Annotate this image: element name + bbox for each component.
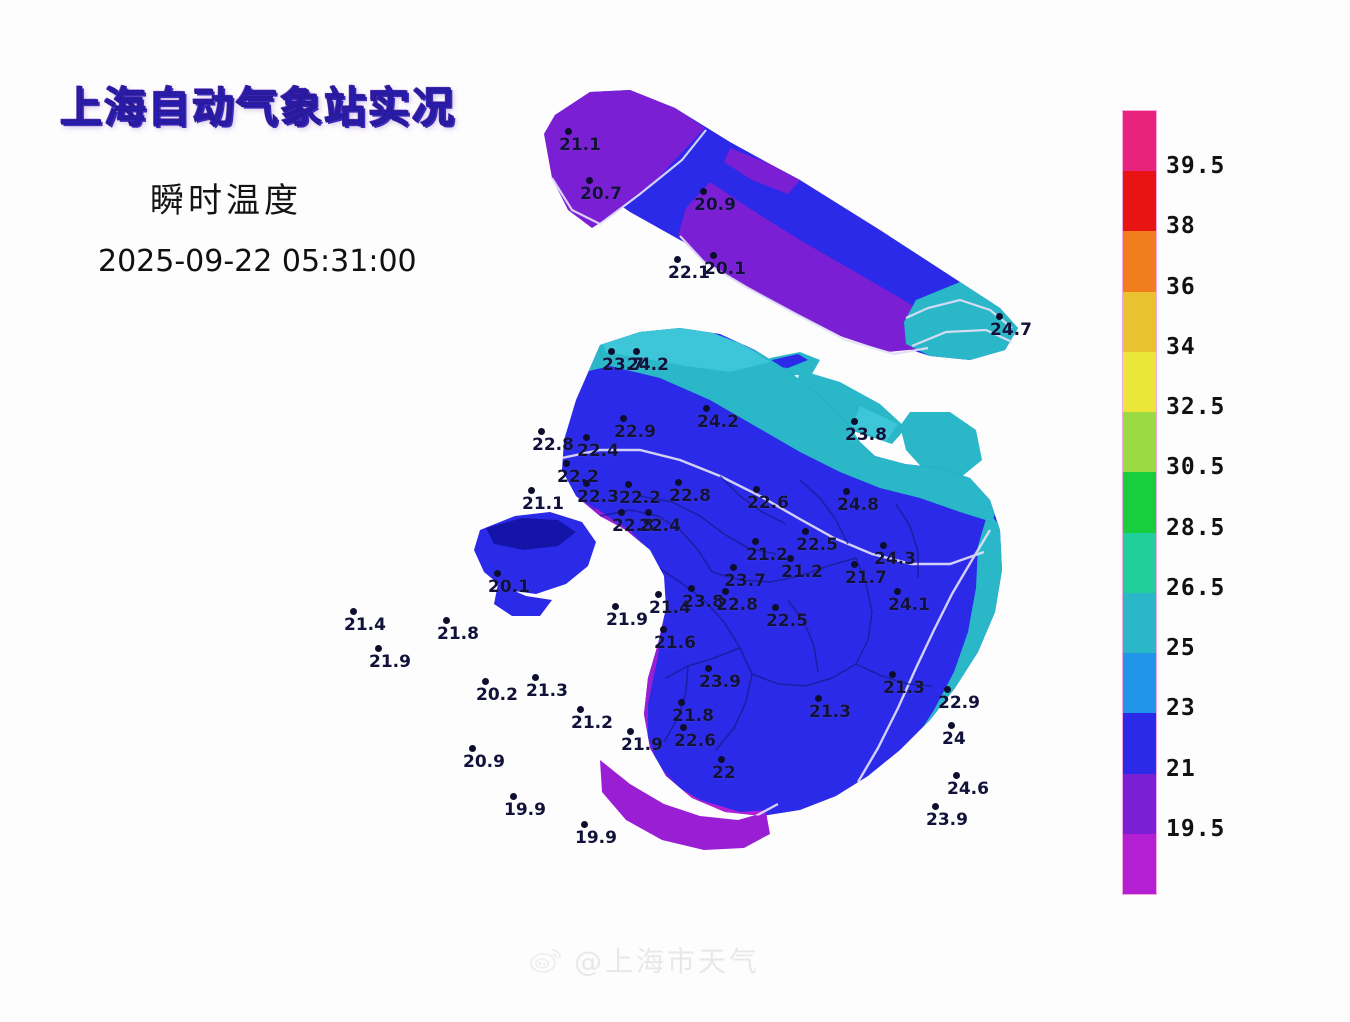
station-dot-icon <box>482 678 489 685</box>
station-value: 22.4 <box>639 516 681 536</box>
station-dot-icon <box>608 348 615 355</box>
station-value: 20.7 <box>580 184 622 204</box>
station-dot-icon <box>944 686 951 693</box>
station-dot-icon <box>996 313 1003 320</box>
station-dot-icon <box>494 570 501 577</box>
colorbar-label-21: 21 <box>1166 756 1196 782</box>
station-value: 24.3 <box>874 549 916 569</box>
station-dot-icon <box>350 608 357 615</box>
station-value: 22.8 <box>669 486 711 506</box>
station-value: 24.6 <box>947 779 989 799</box>
colorbar-label-34: 34 <box>1166 334 1196 360</box>
station-value: 20.2 <box>476 685 518 705</box>
colorbar-gradient <box>1122 110 1157 895</box>
colorbar-band-6 <box>1123 472 1156 532</box>
colorbar-band-9 <box>1123 653 1156 713</box>
station-value: 21.7 <box>845 568 887 588</box>
station-value: 21.2 <box>781 562 823 582</box>
station-value: 20.1 <box>704 259 746 279</box>
station-dot-icon <box>620 415 627 422</box>
station-value: 24.2 <box>697 412 739 432</box>
station-dot-icon <box>375 645 382 652</box>
watermark: @上海市天气 <box>530 940 760 980</box>
watermark-text: @上海市天气 <box>574 940 760 980</box>
station-value: 21.1 <box>522 494 564 514</box>
station-dot-icon <box>645 509 652 516</box>
station-dot-icon <box>889 671 896 678</box>
station-dot-icon <box>510 793 517 800</box>
station-value: 21.9 <box>369 652 411 672</box>
station-dot-icon <box>703 405 710 412</box>
colorbar-band-1 <box>1123 171 1156 231</box>
colorbar-label-39-5: 39.5 <box>1166 153 1225 179</box>
station-value: 24.8 <box>837 495 879 515</box>
station-dot-icon <box>538 428 545 435</box>
station-dot-icon <box>633 348 640 355</box>
station-dot-icon <box>655 591 662 598</box>
colorbar-label-36: 36 <box>1166 274 1196 300</box>
colorbar-band-4 <box>1123 352 1156 412</box>
station-value: 19.9 <box>504 800 546 820</box>
station-dot-icon <box>660 626 667 633</box>
station-value: 21.1 <box>559 135 601 155</box>
station-value: 23.9 <box>926 810 968 830</box>
station-dot-icon <box>710 252 717 259</box>
station-value: 24.7 <box>990 320 1032 340</box>
colorbar-label-38: 38 <box>1166 213 1196 239</box>
station-dot-icon <box>700 188 707 195</box>
station-dot-icon <box>851 561 858 568</box>
station-dot-icon <box>705 665 712 672</box>
station-value: 21.3 <box>526 681 568 701</box>
station-dot-icon <box>894 588 901 595</box>
station-value: 22.8 <box>716 595 758 615</box>
station-dot-icon <box>469 745 476 752</box>
station-value: 21.3 <box>883 678 925 698</box>
station-value: 24.1 <box>888 595 930 615</box>
station-value: 22.2 <box>619 488 661 508</box>
station-value: 21.3 <box>809 702 851 722</box>
station-value: 20.1 <box>488 577 530 597</box>
station-dot-icon <box>581 821 588 828</box>
station-value: 21.9 <box>606 610 648 630</box>
colorbar-band-8 <box>1123 593 1156 653</box>
station-value: 21.8 <box>437 624 479 644</box>
station-dot-icon <box>675 479 682 486</box>
station-dot-icon <box>851 418 858 425</box>
station-value: 22.3 <box>577 487 619 507</box>
station-dot-icon <box>532 674 539 681</box>
station-dot-icon <box>443 617 450 624</box>
colorbar-label-30-5: 30.5 <box>1166 454 1225 480</box>
station-dot-icon <box>753 486 760 493</box>
station-dot-icon <box>718 756 725 763</box>
station-dot-icon <box>565 128 572 135</box>
colorbar-band-2 <box>1123 231 1156 291</box>
station-value: 24 <box>942 729 966 749</box>
station-value: 21.6 <box>654 633 696 653</box>
station-value: 22.5 <box>796 535 838 555</box>
station-dot-icon <box>674 256 681 263</box>
station-value: 22 <box>712 763 736 783</box>
station-value: 21.8 <box>672 706 714 726</box>
station-dot-icon <box>815 695 822 702</box>
station-dot-icon <box>843 488 850 495</box>
colorbar: 39.538363432.530.528.526.525232119.5 <box>1118 105 1318 905</box>
colorbar-tick-labels: 39.538363432.530.528.526.525232119.5 <box>1166 105 1306 898</box>
station-dot-icon <box>880 542 887 549</box>
temperature-map: 21.120.720.922.120.124.723.724.224.223.8… <box>300 60 1060 940</box>
station-dot-icon <box>722 588 729 595</box>
station-value: 22.5 <box>766 611 808 631</box>
station-dot-icon <box>528 487 535 494</box>
station-value: 23.9 <box>699 672 741 692</box>
colorbar-label-32-5: 32.5 <box>1166 394 1225 420</box>
colorbar-label-26-5: 26.5 <box>1166 575 1225 601</box>
station-dot-icon <box>953 772 960 779</box>
station-value: 22.6 <box>747 493 789 513</box>
colorbar-band-10 <box>1123 713 1156 773</box>
station-dot-icon <box>577 706 584 713</box>
station-value: 23.8 <box>845 425 887 445</box>
station-dot-icon <box>563 460 570 467</box>
colorbar-band-5 <box>1123 412 1156 472</box>
station-value: 23.7 <box>724 571 766 591</box>
station-dot-icon <box>752 538 759 545</box>
colorbar-band-3 <box>1123 292 1156 352</box>
colorbar-label-28-5: 28.5 <box>1166 515 1225 541</box>
colorbar-band-0 <box>1123 111 1156 171</box>
weibo-logo-icon <box>530 946 564 974</box>
colorbar-band-7 <box>1123 533 1156 593</box>
station-dot-icon <box>772 604 779 611</box>
station-dot-icon <box>586 177 593 184</box>
station-dot-icon <box>583 434 590 441</box>
chongming-island <box>544 90 1018 360</box>
station-dot-icon <box>612 603 619 610</box>
station-value: 21.9 <box>621 735 663 755</box>
station-dot-icon <box>583 480 590 487</box>
station-value: 24.2 <box>627 355 669 375</box>
station-dot-icon <box>932 803 939 810</box>
station-dot-icon <box>625 481 632 488</box>
colorbar-label-19-5: 19.5 <box>1166 816 1225 842</box>
station-value: 22.6 <box>674 731 716 751</box>
station-value: 22.8 <box>532 435 574 455</box>
station-value: 21.2 <box>571 713 613 733</box>
station-dot-icon <box>802 528 809 535</box>
station-value: 22.4 <box>577 441 619 461</box>
station-value: 21.4 <box>344 615 386 635</box>
station-value: 22.9 <box>614 422 656 442</box>
station-dot-icon <box>627 728 634 735</box>
station-dot-icon <box>680 724 687 731</box>
station-dot-icon <box>688 585 695 592</box>
colorbar-band-12 <box>1123 834 1156 894</box>
station-value: 22.9 <box>938 693 980 713</box>
station-value: 20.9 <box>463 752 505 772</box>
station-dot-icon <box>787 555 794 562</box>
station-dot-icon <box>948 722 955 729</box>
station-dot-icon <box>730 564 737 571</box>
screenshot-root: 上海自动气象站实况 瞬时温度 2025-09-22 05:31:00 <box>0 0 1350 1022</box>
station-dot-icon <box>618 509 625 516</box>
station-value: 22.2 <box>557 467 599 487</box>
colorbar-band-11 <box>1123 774 1156 834</box>
colorbar-label-25: 25 <box>1166 635 1196 661</box>
station-value: 19.9 <box>575 828 617 848</box>
station-dot-icon <box>678 699 685 706</box>
colorbar-label-23: 23 <box>1166 695 1196 721</box>
station-value: 20.9 <box>694 195 736 215</box>
